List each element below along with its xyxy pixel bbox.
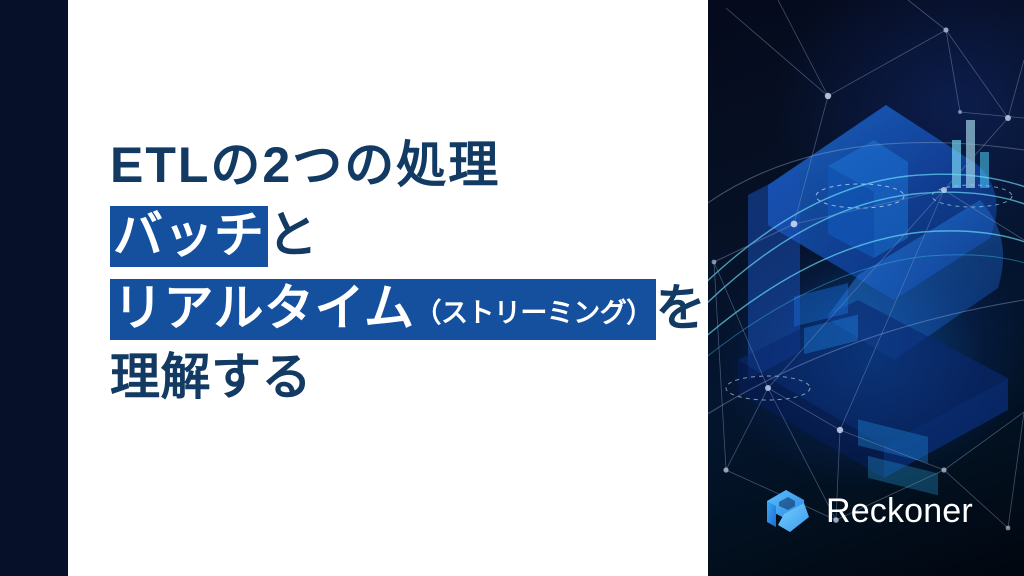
headline-line-2-suffix: と [268,207,319,263]
headline-highlight-realtime-ruby: （ストリーミング） [415,298,653,328]
headline-line-2: バッチと [110,206,700,267]
headline-highlight-realtime-main: リアルタイム [113,280,415,336]
brand-name: Reckoner [826,494,973,528]
headline-highlight-batch: バッチ [110,206,268,267]
headline-line-4: 理解する [110,352,700,402]
headline-highlight-realtime: リアルタイム（ストリーミング） [110,279,656,340]
headline-block: ETLの2つの処理 バッチと リアルタイム（ストリーミング）を 理解する [110,140,700,402]
left-accent-bar [0,0,68,576]
slide-canvas: ETLの2つの処理 バッチと リアルタイム（ストリーミング）を 理解する [0,0,1024,576]
headline-line-3-suffix: を [656,280,707,336]
reckoner-logo-icon [764,487,812,535]
headline-line-3: リアルタイム（ストリーミング）を [110,279,700,340]
brand-lockup: Reckoner [764,487,973,535]
headline-line-1: ETLの2つの処理 [110,140,700,190]
